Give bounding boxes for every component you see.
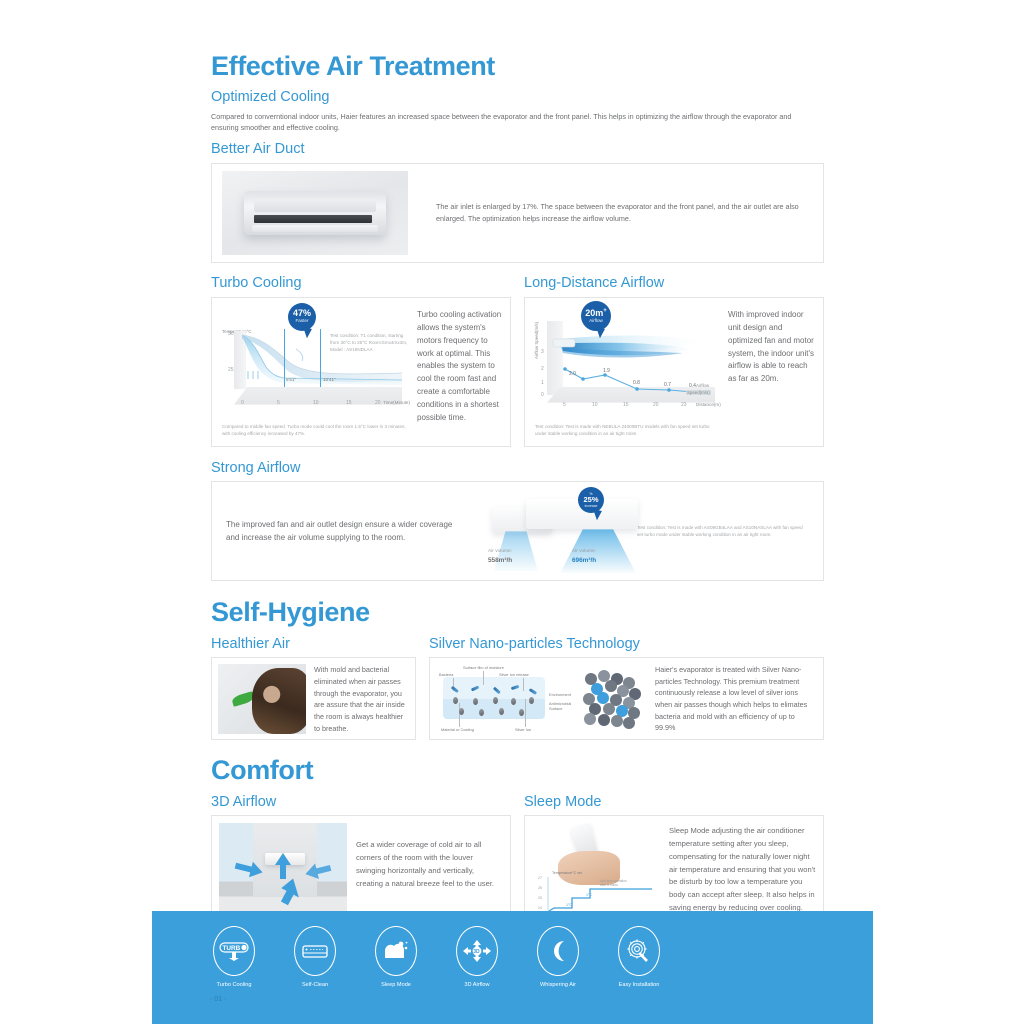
woman-silhouette: [252, 668, 306, 734]
section-title-comfort: Comfort: [211, 756, 824, 784]
particle-5: [529, 697, 534, 704]
particle-1: [453, 697, 458, 704]
marker-line-1: [284, 329, 285, 387]
plot-area-longdist: 2.0 1.9 0.8 0.7 0.4 3 2 1 0 5 10 15: [533, 321, 723, 413]
ytick-25: 25: [538, 896, 542, 900]
leader-line-3: [523, 678, 524, 691]
feature-label: Self-Clean: [291, 982, 339, 988]
col-healthier-air: Healthier Air With mold and bacterial el…: [211, 636, 416, 741]
heading-sleep-mode: Sleep Mode: [524, 794, 824, 811]
marker-line-2: [320, 329, 321, 387]
label-material-coating: Material or Coating: [441, 727, 474, 732]
feature-sleep-mode[interactable]: Sleep Mode: [372, 926, 420, 988]
xtick-15: 15: [623, 402, 629, 408]
feature-label: Sleep Mode: [372, 982, 420, 988]
card-silver-nano: Surface film of moisture Bacteria Silver…: [429, 657, 824, 740]
heading-3d-airflow: 3D Airflow: [211, 794, 511, 811]
datalabel-0-8: 0.8: [633, 380, 640, 386]
ytick-26: 26: [538, 886, 542, 890]
ac-inlet: [254, 199, 376, 212]
ac-base: [252, 225, 378, 232]
text-silver-nano: Haier's evaporator is treated with Silve…: [647, 664, 816, 734]
badge-value: 47%: [293, 309, 311, 318]
ac-unit-body: [244, 191, 386, 235]
xtick-20: 20: [375, 400, 381, 406]
self-clean-icon: [294, 926, 336, 976]
card-healthier-air: With mold and bacterial eliminated when …: [211, 657, 416, 740]
3d-airflow-icon: 3D: [456, 926, 498, 976]
ytick-3: 3: [541, 349, 544, 355]
caption-air-volume-left: Air volume:: [488, 549, 512, 554]
easy-install-icon: [618, 926, 660, 976]
airflow-plume: [533, 321, 721, 413]
card-long-distance: Airflow Speed(m/s): [524, 297, 824, 447]
page-number: - 01 -: [210, 996, 226, 1003]
col-silver-nano: Silver Nano-particles Technology Surface…: [429, 636, 824, 741]
badge-label: Faster: [295, 319, 308, 324]
label-bacteria: Bacteria: [439, 672, 453, 677]
air-volume-comparison: % 25% increase Air volume: 558m³/h Air v…: [464, 489, 633, 573]
silver-nano-cluster: [577, 665, 647, 733]
turbo-test-condition: Test condition: T1 condition, starting f…: [330, 333, 408, 354]
ytick-25: 25: [228, 367, 234, 373]
feature-label: Turbo Cooling: [210, 982, 258, 988]
value-air-volume-right: 696m³/h: [572, 557, 596, 564]
text-turbo-cooling: Turbo cooling activation allows the syst…: [410, 305, 502, 440]
particle-3: [493, 697, 498, 704]
long-distance-footnote: Test condition: Test is made with NEBULA…: [535, 424, 721, 438]
ytick-2: 2: [541, 366, 544, 372]
sleep-mode-icon: [375, 926, 417, 976]
woman-breathing-image: [218, 664, 306, 734]
particle-2: [473, 698, 478, 705]
badge-value: 20m: [585, 308, 603, 318]
heading-long-distance-airflow: Long-Distance Airflow: [524, 275, 824, 292]
datalabel-0-7: 0.7: [664, 382, 671, 388]
silver-nano-diagram: Surface film of moisture Bacteria Silver…: [437, 663, 577, 735]
page-content: Effective Air Treatment Optimized Coolin…: [211, 52, 824, 925]
ytick-1: 1: [541, 380, 544, 386]
text-long-distance: With improved indoor unit design and opt…: [721, 305, 815, 440]
marker-label-1: 5'51": [286, 377, 296, 382]
turbo-footnote: Compared to middle fan speed. Turbo mode…: [222, 424, 410, 438]
label-silver-ion: Silver Ion: [515, 727, 531, 732]
3d-airflow-illustration: [219, 823, 347, 917]
heading-better-air-duct: Better Air Duct: [211, 141, 824, 158]
col-3d-airflow: 3D Airflow: [211, 794, 511, 926]
feature-label: Easy Installation: [615, 982, 663, 988]
card-sleep-mode: Temperature°C set 27 26 25 24 1°C: [524, 815, 824, 925]
feature-whispering-air[interactable]: Whispering Air: [534, 926, 582, 988]
ytick-30: 30: [228, 331, 234, 337]
card-turbo-cooling: Temperature°C: [211, 297, 511, 447]
badge-20m-airflow: 20m+ Airflow: [581, 301, 611, 331]
particle-4: [511, 698, 516, 705]
text-3d-airflow: Get a wider coverage of cold air to all …: [347, 823, 503, 917]
xtick-15: 15: [346, 400, 352, 406]
leader-line-5: [525, 699, 526, 727]
col-long-distance: Long-Distance Airflow Airflow Speed(m/s): [524, 275, 824, 447]
step-label-1: 1°C: [566, 903, 572, 907]
legend-airflow: Airflow: [696, 383, 709, 388]
text-optimized-cooling: Compared to converntional indoor units, …: [211, 111, 796, 133]
section-title-self-hygiene: Self-Hygiene: [211, 598, 824, 626]
heading-silver-nano: Silver Nano-particles Technology: [429, 636, 824, 653]
badge-label: Airflow: [589, 319, 603, 324]
ytick-27: 27: [538, 876, 542, 880]
leader-line-4: [459, 703, 460, 727]
xtick-23: 23: [681, 402, 687, 408]
label-surface-film: Surface film of moisture: [463, 665, 504, 670]
feature-turbo-cooling[interactable]: TURB Turbo Cooling: [210, 926, 258, 988]
brochure-page: Effective Air Treatment Optimized Coolin…: [0, 0, 1024, 1024]
strong-airflow-test-condition: Test condition: Test is made with AS09GB…: [633, 524, 809, 538]
molecule-lattice: [577, 667, 647, 735]
badge-sup: +: [603, 308, 607, 314]
card-strong-airflow: The improved fan and air outlet design e…: [211, 481, 824, 581]
particle-8: [499, 708, 504, 715]
chart-note: Unit stop operation after 8 hours: [600, 879, 634, 887]
ytick-24: 24: [538, 906, 542, 910]
xtick-0: 0: [241, 400, 244, 406]
label-silver-ion-release: Silver ion release: [499, 672, 529, 677]
step-label-2: 1°C: [586, 893, 592, 897]
ac-louver: [254, 215, 372, 223]
xtick-5: 5: [277, 400, 280, 406]
footer-bar: TURB Turbo Cooling Self-Clean Sleep Mode…: [152, 911, 873, 1024]
feature-self-clean[interactable]: Self-Clean: [291, 926, 339, 988]
whispering-icon: [537, 926, 579, 976]
feature-easy-installation[interactable]: Easy Installation: [615, 926, 663, 988]
col-turbo-cooling: Turbo Cooling Temperature°C: [211, 275, 511, 447]
ytick-0: 0: [541, 392, 544, 398]
particle-7: [479, 709, 484, 716]
sleep-mode-illustration: Temperature°C set 27 26 25 24 1°C: [532, 823, 660, 917]
text-healthier-air: With mold and bacterial eliminated when …: [306, 664, 409, 733]
heading-healthier-air: Healthier Air: [211, 636, 416, 653]
datalabel-0-4: 0.4: [689, 383, 696, 389]
particle-9: [519, 709, 524, 716]
xtick-10: 10: [313, 400, 319, 406]
caption-air-volume-right: Air volume:: [572, 549, 596, 554]
badge-value: 25%: [583, 496, 598, 504]
marker-label-2: 10'41": [323, 377, 336, 382]
svg-text:3D: 3D: [473, 949, 480, 955]
svg-text:TURB: TURB: [223, 945, 241, 952]
datalabel-1-9: 1.9: [603, 368, 610, 374]
turbo-icon: TURB: [213, 926, 255, 976]
legend-speed: Speed(m/s): [686, 390, 711, 395]
text-sleep-mode: Sleep Mode adjusting the air conditioner…: [660, 823, 816, 917]
turbo-cooling-chart: Temperature°C: [220, 305, 410, 440]
card-3d-airflow: Get a wider coverage of cold air to all …: [211, 815, 511, 925]
xtick-5: 5: [563, 402, 566, 408]
section-title-air-treatment: Effective Air Treatment: [211, 52, 824, 80]
axis-label-distance: Distance(m): [696, 402, 721, 407]
label-antimicrobial-surface: Antimicrobial Surface: [549, 701, 575, 711]
badge-value-wrap: 20m+: [585, 308, 607, 318]
value-air-volume-left: 558m³/h: [488, 557, 512, 564]
heading-turbo-cooling: Turbo Cooling: [211, 275, 511, 292]
card-better-air-duct: The air inlet is enlarged by 17%. The sp…: [211, 163, 824, 263]
leader-line-1: [483, 671, 484, 685]
airflow-arrows: [219, 823, 347, 917]
text-better-air-duct: The air inlet is enlarged by 17%. The sp…: [408, 201, 813, 224]
axis-label-time: Time(Minute): [383, 400, 410, 405]
badge-label: increase: [585, 505, 598, 508]
ac-unit-photo: [222, 171, 408, 255]
feature-3d-airflow[interactable]: 3D 3D Airflow: [453, 926, 501, 988]
feature-label: Whispering Air: [534, 982, 582, 988]
text-strong-airflow: The improved fan and air outlet design e…: [226, 518, 464, 545]
long-distance-airflow-chart: Airflow Speed(m/s): [533, 305, 721, 440]
heading-strong-airflow: Strong Airflow: [211, 460, 824, 477]
feature-label: 3D Airflow: [453, 982, 501, 988]
particle-6: [459, 708, 464, 715]
xtick-20: 20: [653, 402, 659, 408]
heading-optimized-cooling: Optimized Cooling: [211, 89, 824, 106]
feature-icon-list: TURB Turbo Cooling Self-Clean Sleep Mode…: [210, 926, 663, 988]
label-environment: Environment: [549, 692, 571, 697]
datalabel-2-0: 2.0: [569, 371, 576, 377]
xtick-10: 10: [592, 402, 598, 408]
col-sleep-mode: Sleep Mode Temperature°C set 27 26 25 24: [524, 794, 824, 926]
badge-47-percent-faster: 47% Faster: [288, 303, 316, 331]
